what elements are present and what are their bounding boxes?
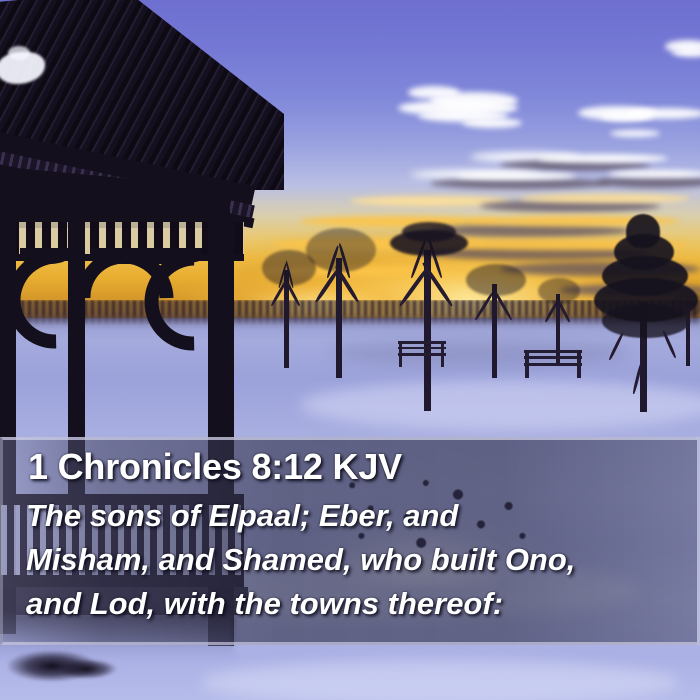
- cloud-streak: [608, 170, 700, 178]
- cloud-streak: [538, 154, 668, 163]
- cloud: [610, 130, 660, 137]
- verse-text-block: The sons of Elpaal; Eber, and Misham, an…: [26, 494, 686, 626]
- cloud-streak-warm: [520, 194, 690, 203]
- verse-reference: 1 Chronicles 8:12 KJV: [28, 446, 402, 488]
- bare-tree: [460, 258, 532, 378]
- verse-line: Misham, and Shamed, who built Ono,: [26, 538, 686, 582]
- verse-text-overlay: 1 Chronicles 8:12 KJV The sons of Elpaal…: [0, 437, 700, 645]
- roof-snow-patch: [8, 46, 30, 60]
- bare-tree: [300, 228, 380, 378]
- snow-highlight: [200, 660, 680, 700]
- foreground-debris: [52, 656, 122, 682]
- verse-line: The sons of Elpaal; Eber, and: [26, 494, 686, 538]
- verse-line: and Lod, with the towns thereof:: [26, 582, 686, 626]
- verse-image-canvas: 1 Chronicles 8:12 KJV The sons of Elpaal…: [0, 0, 700, 700]
- cloud-streak: [456, 172, 576, 180]
- gazebo-bracket-block: [20, 248, 68, 264]
- park-bench: [398, 341, 446, 367]
- cloud: [462, 118, 522, 128]
- cloud: [626, 108, 700, 119]
- park-bench: [524, 350, 582, 378]
- gazebo-bracket-block: [90, 248, 202, 264]
- bare-tree-far: [672, 290, 700, 366]
